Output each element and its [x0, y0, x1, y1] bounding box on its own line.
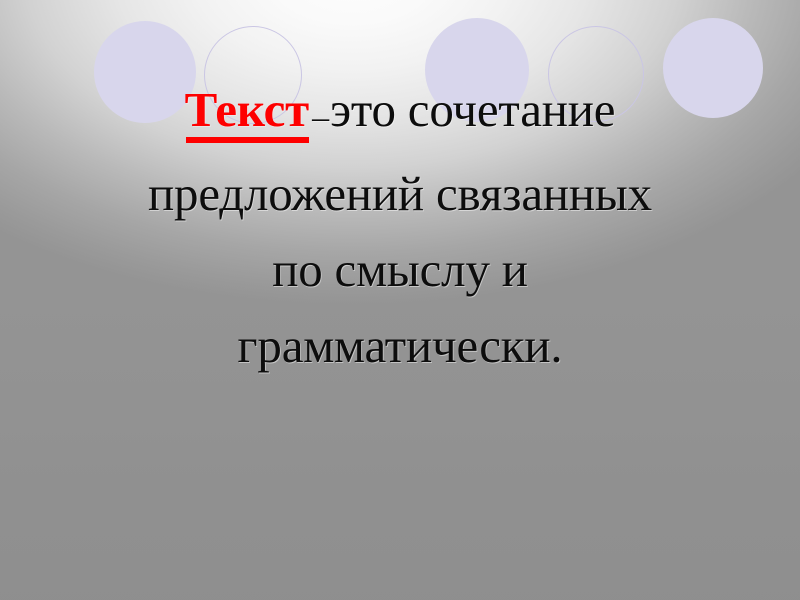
- definition-line-2: предложений связанных: [24, 156, 776, 232]
- definition-line-4: грамматически.: [24, 308, 776, 384]
- definition-line-1: Текст–это сочетание: [24, 72, 776, 156]
- definition-text-block: Текст–это сочетание предложений связанны…: [24, 72, 776, 384]
- keyword-tekst: Текст: [185, 82, 311, 137]
- slide-content: Текст–это сочетание предложений связанны…: [0, 0, 800, 600]
- definition-line-3: по смыслу и: [24, 232, 776, 308]
- definition-line-1-rest: это сочетание: [330, 82, 615, 137]
- em-dash: –: [311, 99, 330, 136]
- slide-canvas: Текст–это сочетание предложений связанны…: [0, 0, 800, 600]
